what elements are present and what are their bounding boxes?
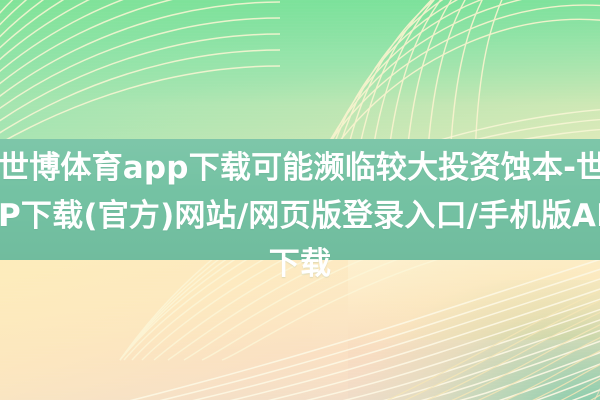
headline-text: 世博体育app下载可能濒临较大投资蚀本-世博AP P下载(官方)网站/网页版登录… bbox=[0, 144, 600, 288]
headline-line-3: 下载 bbox=[0, 240, 600, 288]
background-bottom-right-green-glow bbox=[348, 280, 600, 400]
headline-line-2: P下载(官方)网站/网页版登录入口/手机版APP下载 bbox=[0, 192, 600, 240]
headline-line-1: 世博体育app下载可能濒临较大投资蚀本-世博AP bbox=[0, 144, 600, 192]
banner-image: 世博体育app下载可能濒临较大投资蚀本-世博AP P下载(官方)网站/网页版登录… bbox=[0, 0, 600, 400]
background-top-green-tint bbox=[0, 0, 600, 150]
